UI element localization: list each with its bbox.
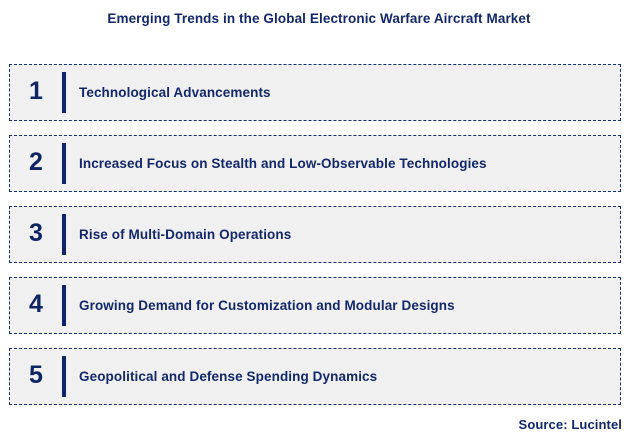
trend-label: Technological Advancements bbox=[66, 84, 620, 101]
trend-number: 2 bbox=[10, 150, 62, 177]
trend-item-5: 5 Geopolitical and Defense Spending Dyna… bbox=[9, 348, 621, 405]
trend-item-3: 3 Rise of Multi-Domain Operations bbox=[9, 206, 621, 263]
trend-label: Increased Focus on Stealth and Low-Obser… bbox=[66, 155, 620, 172]
trend-item-2: 2 Increased Focus on Stealth and Low-Obs… bbox=[9, 135, 621, 192]
trend-item-4: 4 Growing Demand for Customization and M… bbox=[9, 277, 621, 334]
trend-label: Growing Demand for Customization and Mod… bbox=[66, 297, 620, 314]
trend-label: Rise of Multi-Domain Operations bbox=[66, 226, 620, 243]
trend-item-1: 1 Technological Advancements bbox=[9, 64, 621, 121]
trend-number: 3 bbox=[10, 221, 62, 248]
source-attribution: Source: Lucintel bbox=[519, 417, 622, 432]
trend-list: 1 Technological Advancements 2 Increased… bbox=[9, 64, 621, 419]
trend-number: 4 bbox=[10, 292, 62, 319]
trend-number: 1 bbox=[10, 79, 62, 106]
page-title: Emerging Trends in the Global Electronic… bbox=[0, 0, 638, 28]
trend-label: Geopolitical and Defense Spending Dynami… bbox=[66, 368, 620, 385]
trend-number: 5 bbox=[10, 363, 62, 390]
